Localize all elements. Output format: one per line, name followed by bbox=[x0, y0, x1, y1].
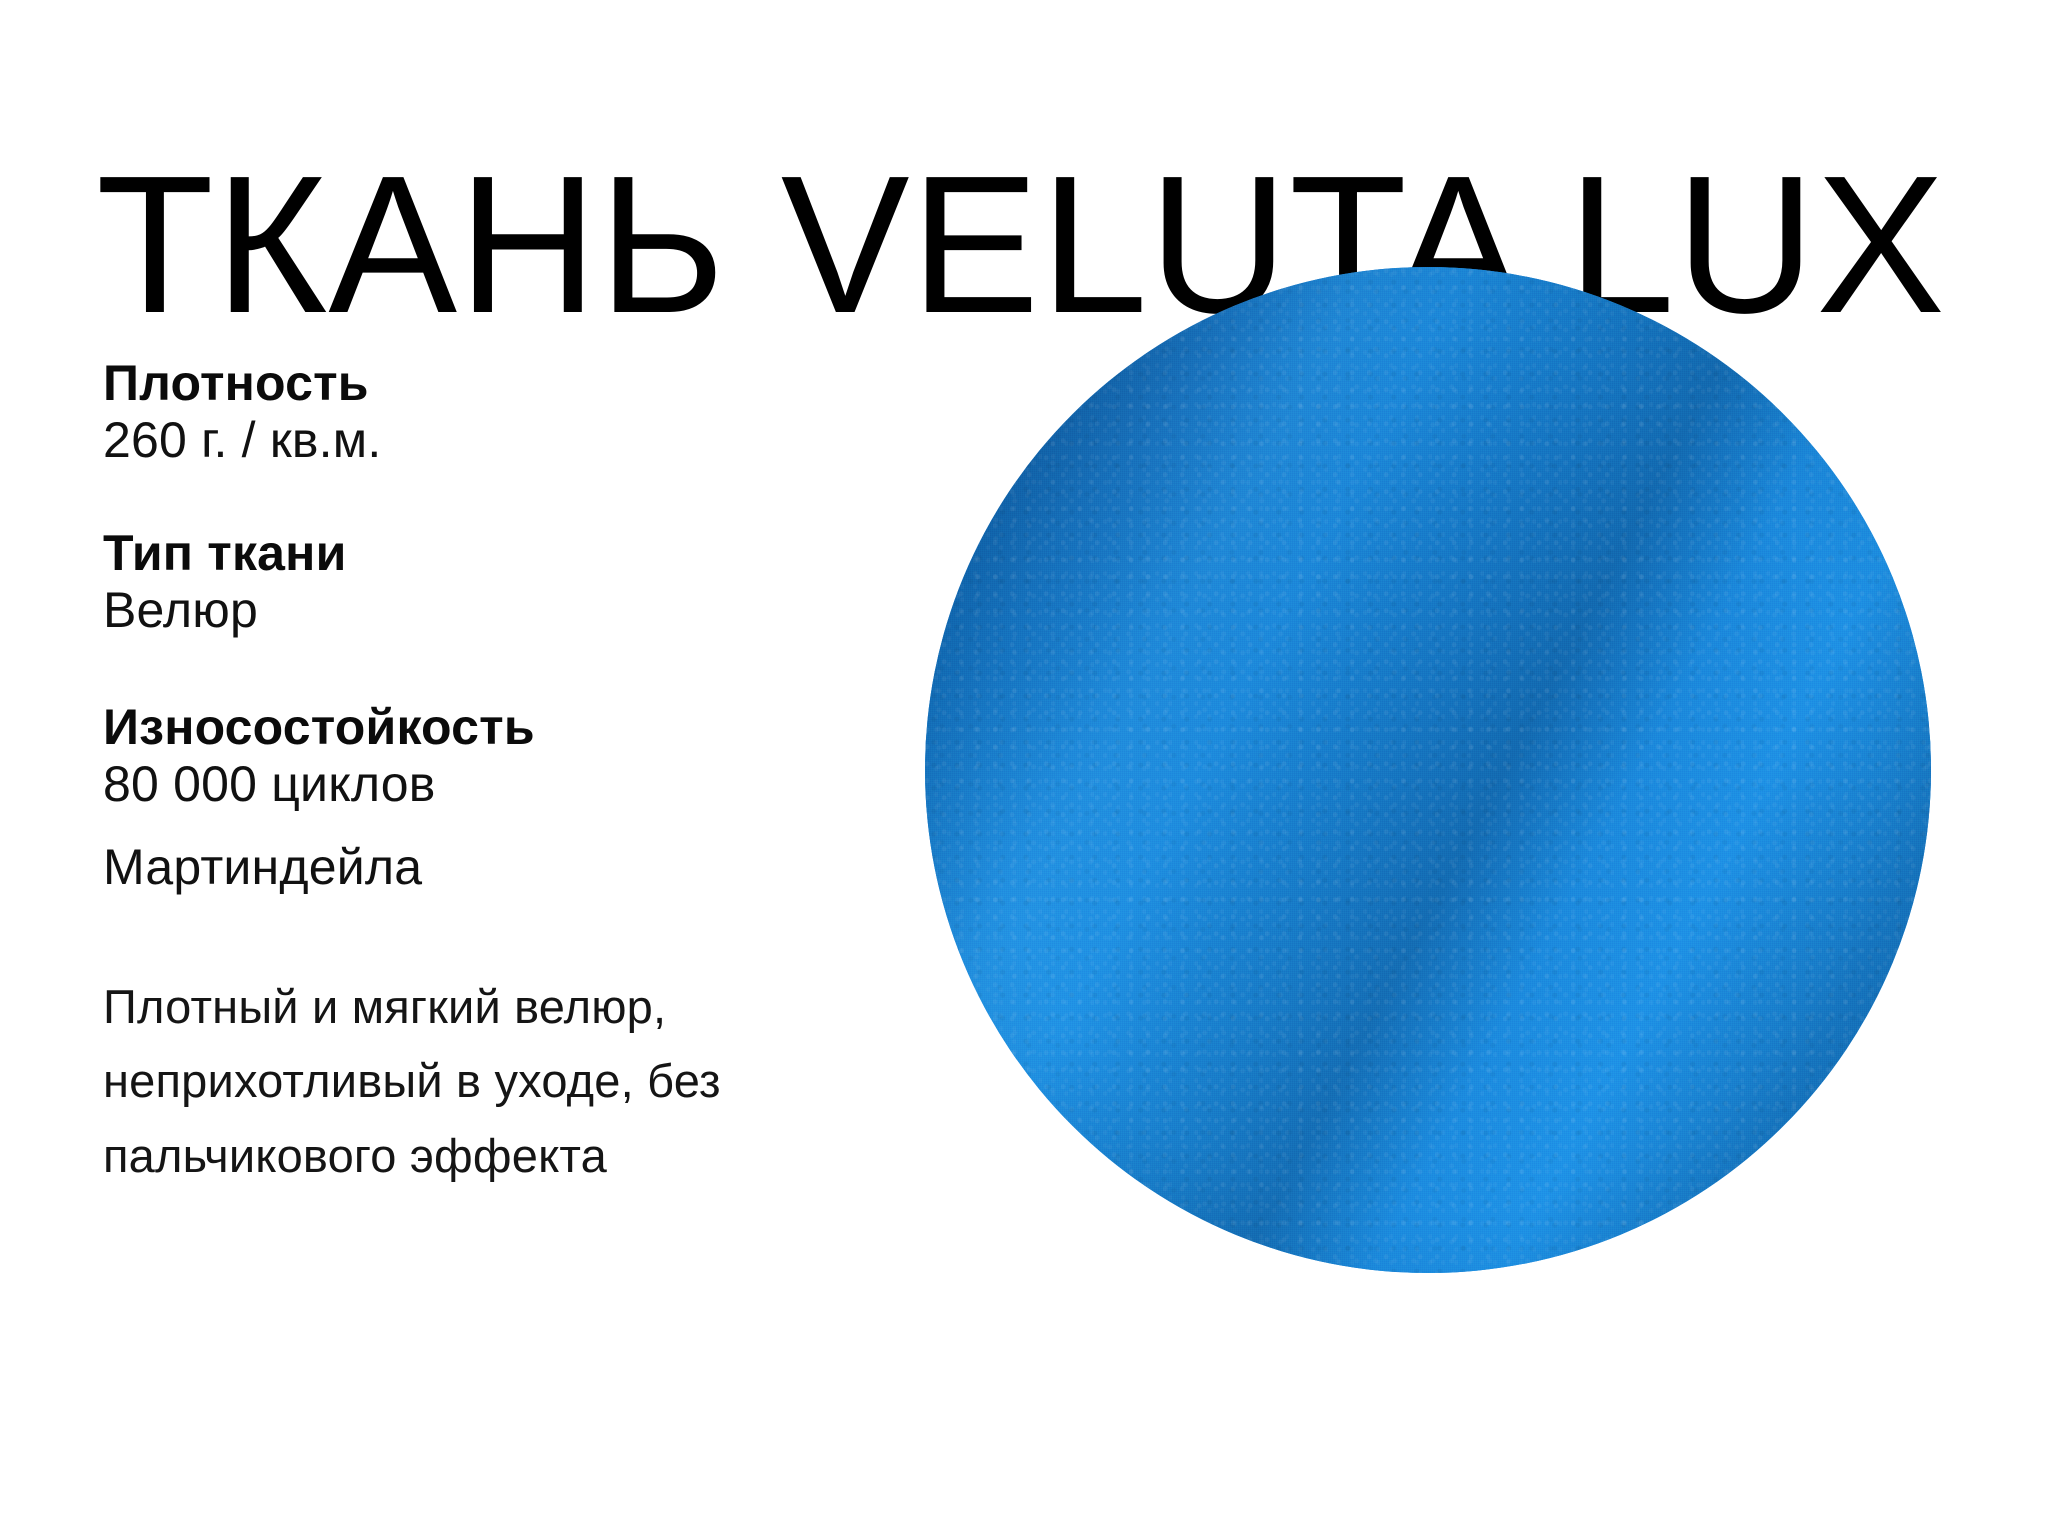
spec-list: Плотность 260 г. / кв.м. Тип ткани Велюр… bbox=[103, 355, 923, 1240]
spec-label-durability: Износостойкость bbox=[103, 699, 923, 756]
spec-label-density: Плотность bbox=[103, 355, 923, 412]
spec-value-durability-cycles: 80 000 циклов bbox=[103, 756, 923, 813]
spec-value-density: 260 г. / кв.м. bbox=[103, 412, 923, 469]
spec-value-durability-standard: Мартиндейла bbox=[103, 839, 923, 896]
fabric-swatch-image bbox=[925, 267, 1931, 1273]
fabric-swatch-vignette bbox=[925, 267, 1931, 1273]
fabric-info-card: ТКАНЬ VELUTA LUX Плотность 260 г. / кв.м… bbox=[0, 0, 2048, 1536]
spec-label-fabric-type: Тип ткани bbox=[103, 525, 923, 582]
fabric-description: Плотный и мягкий велюр, неприхотливый в … bbox=[103, 970, 903, 1193]
spec-value-fabric-type: Велюр bbox=[103, 582, 923, 639]
spec-block-density: Плотность 260 г. / кв.м. bbox=[103, 355, 923, 469]
spec-block-fabric-type: Тип ткани Велюр bbox=[103, 525, 923, 639]
spec-block-durability: Износостойкость 80 000 циклов Мартиндейл… bbox=[103, 699, 923, 896]
